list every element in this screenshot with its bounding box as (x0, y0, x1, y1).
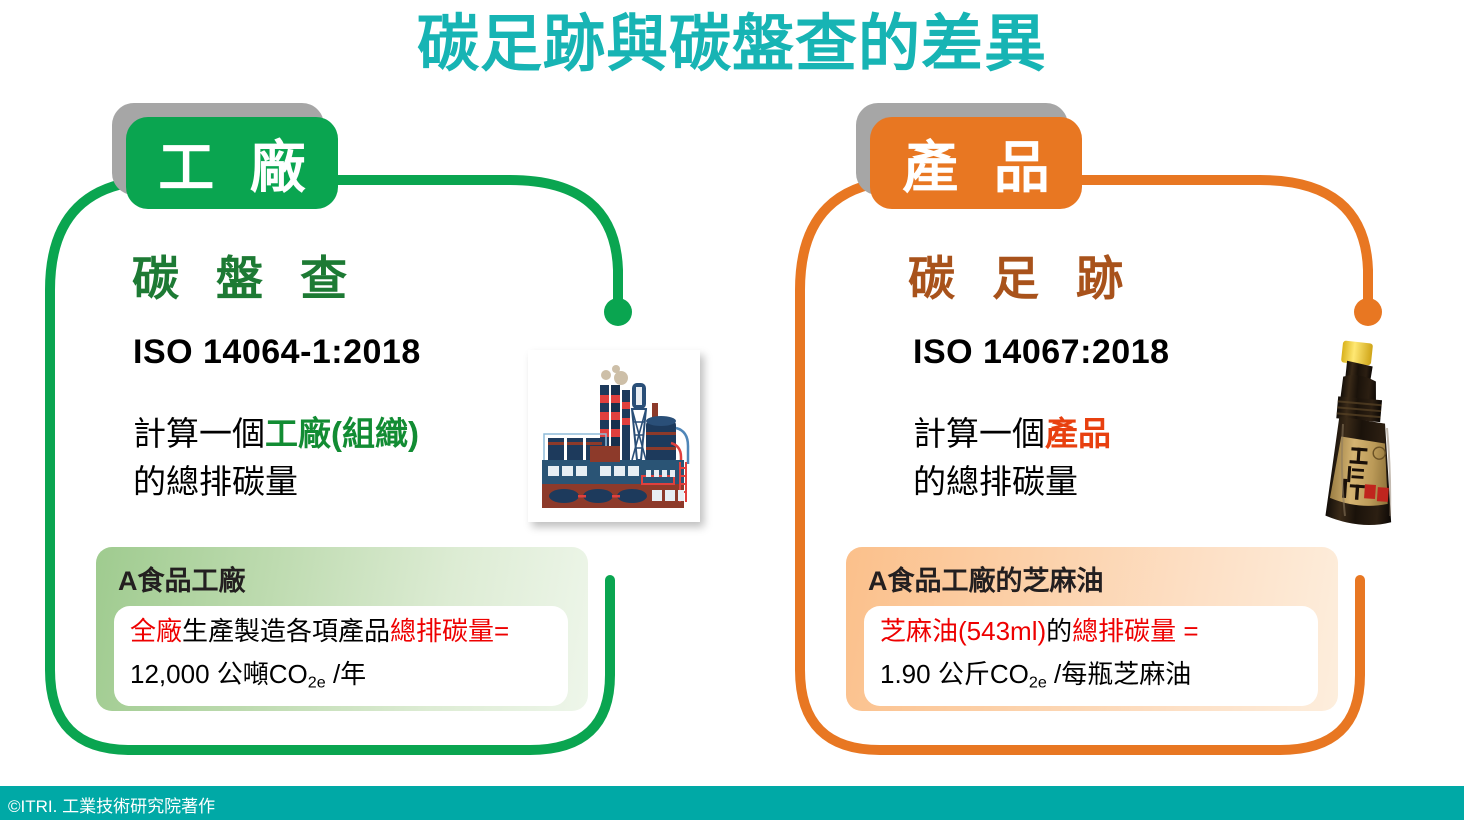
left-card-unit-b: /年 (333, 659, 366, 689)
left-card-red-a: 全廠 (130, 616, 182, 646)
left-desc-highlight: 工廠(組織) (265, 415, 419, 452)
sesame-oil-bottle-icon (1296, 336, 1408, 536)
left-card-line-2: 12,000 公噸CO2e /年 (130, 661, 552, 691)
right-card-line-2: 1.90 公斤CO2e /每瓶芝麻油 (880, 661, 1302, 691)
right-description: 計算一個產品 的總排碳量 (913, 410, 1111, 506)
right-description-line2: 的總排碳量 (913, 458, 1111, 506)
right-description-line1: 計算一個產品 (913, 410, 1111, 458)
left-example-box: A食品工廠 全廠生產製造各項產品總排碳量= 12,000 公噸CO2e /年 (96, 547, 588, 711)
left-heading: 碳 盤 查 (132, 240, 359, 309)
right-card-black: 的 (1046, 616, 1072, 646)
right-card-red-a: 芝麻油(543ml) (880, 616, 1046, 646)
right-card-tail: = (1183, 616, 1198, 646)
left-description: 計算一個工廠(組織) 的總排碳量 (133, 410, 419, 506)
right-iso-standard: ISO 14067:2018 (913, 333, 1170, 372)
left-card-value: 12,000 (130, 659, 210, 689)
left-card-line-1: 全廠生產製造各項產品總排碳量= (130, 618, 552, 645)
factory-badge-label: 工 廠 (148, 123, 316, 204)
left-card-unit-a: 公噸CO (217, 659, 308, 689)
right-card-red-b: 總排碳量 (1072, 616, 1176, 646)
right-desc-highlight: 產品 (1045, 415, 1111, 452)
left-description-line1: 計算一個工廠(組織) (133, 410, 419, 458)
factory-illustration-icon (528, 350, 700, 522)
left-example-card: 全廠生產製造各項產品總排碳量= 12,000 公噸CO2e /年 (114, 606, 568, 706)
right-example-card: 芝麻油(543ml)的總排碳量 = 1.90 公斤CO2e /每瓶芝麻油 (864, 606, 1318, 706)
page-title: 碳足跡與碳盤查的差異 (0, 12, 1464, 77)
footer-bar: ©ITRI. 工業技術研究院著作 (0, 786, 1464, 820)
factory-badge[interactable]: 工 廠 (126, 117, 338, 209)
product-badge-label: 產 品 (892, 123, 1060, 204)
right-example-box: A食品工廠的芝麻油 芝麻油(543ml)的總排碳量 = 1.90 公斤CO2e … (846, 547, 1338, 711)
left-example-title: A食品工廠 (118, 559, 588, 598)
right-card-sub: 2e (1029, 674, 1047, 692)
left-desc-prefix: 計算一個 (133, 415, 265, 452)
left-iso-standard: ISO 14064-1:2018 (133, 333, 421, 372)
right-card-unit-a: 公斤CO (938, 659, 1029, 689)
right-example-title: A食品工廠的芝麻油 (868, 559, 1338, 598)
right-card-line-1: 芝麻油(543ml)的總排碳量 = (880, 618, 1302, 645)
right-desc-prefix: 計算一個 (913, 415, 1045, 452)
product-badge[interactable]: 產 品 (870, 117, 1082, 209)
right-card-value: 1.90 (880, 659, 931, 689)
slide-canvas: 碳足跡與碳盤查的差異 工 廠 碳 盤 查 ISO 14064-1:2018 計算… (0, 0, 1464, 820)
left-card-red-b: 總排碳量 (390, 616, 494, 646)
footer-copyright: ©ITRI. 工業技術研究院著作 (8, 792, 215, 817)
right-heading: 碳 足 跡 (908, 240, 1135, 309)
left-description-line2: 的總排碳量 (133, 458, 419, 506)
left-card-sub: 2e (308, 674, 326, 692)
left-card-black: 生產製造各項產品 (182, 616, 390, 646)
left-card-tail: = (494, 616, 509, 646)
right-card-unit-b: /每瓶芝麻油 (1054, 659, 1191, 689)
